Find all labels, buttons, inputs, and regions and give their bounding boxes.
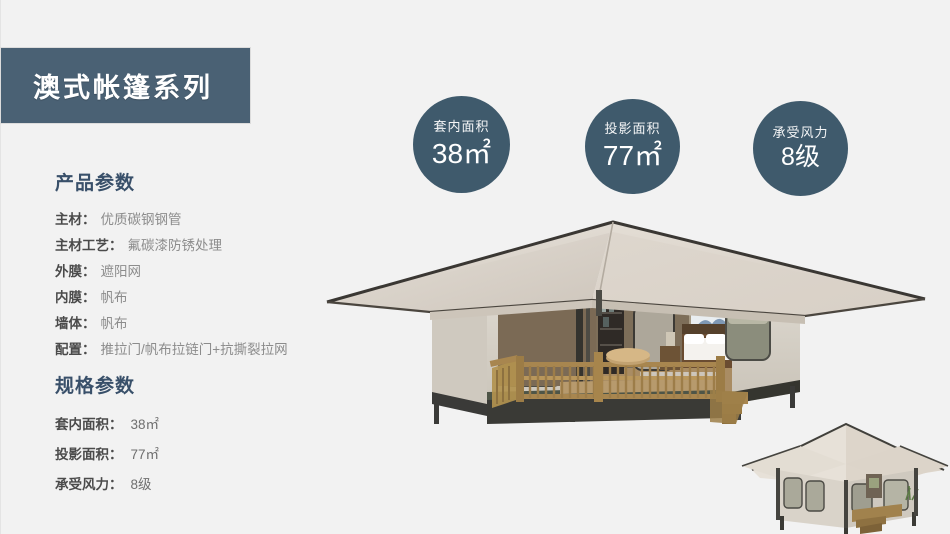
param-value: 优质碳钢钢管 [101,207,182,233]
param-row: 外膜： 遮阳网 [55,259,288,285]
param-value: 帆布 [101,311,128,337]
badge-value: 8级 [781,142,820,172]
param-label: 外膜： [55,259,96,285]
badge-interior-area: 套内面积 38㎡ [413,96,510,193]
param-row: 投影面积： 77㎡ [55,440,159,470]
spec-params-heading: 规格参数 [55,371,159,398]
param-row: 主材： 优质碳钢钢管 [55,207,288,233]
param-label: 投影面积： [55,440,123,470]
param-value: 38㎡ [131,410,160,440]
param-label: 主材： [55,207,96,233]
badge-value: 77㎡ [603,139,662,173]
param-row: 配置： 推拉门/帆布拉链门+抗撕裂拉网 [55,337,288,363]
deck-railing [516,362,724,399]
slide-canvas: 澳式帐篷系列 产品参数 主材： 优质碳钢钢管 主材工艺： 氟碳漆防锈处理 外膜：… [0,0,950,534]
param-row: 主材工艺： 氟碳漆防锈处理 [55,233,288,259]
param-value: 帆布 [101,285,128,311]
badge-label: 投影面积 [604,121,660,137]
param-value: 推拉门/帆布拉链门+抗撕裂拉网 [101,337,288,363]
param-label: 承受风力： [55,470,123,500]
param-row: 墙体： 帆布 [55,311,288,337]
param-label: 墙体： [55,311,96,337]
spec-params-block: 规格参数 套内面积： 38㎡ 投影面积： 77㎡ 承受风力： 8级 [55,371,159,500]
param-label: 主材工艺： [55,233,123,259]
series-title-text: 澳式帐篷系列 [33,66,213,105]
badge-label: 套内面积 [433,119,489,135]
badge-wind-resistance: 承受风力 8级 [753,101,848,196]
product-params-heading: 产品参数 [55,168,288,195]
param-value: 8级 [131,470,152,500]
param-value: 遮阳网 [101,259,142,285]
badge-label: 承受风力 [772,125,828,141]
param-label: 配置： [55,337,96,363]
series-title-banner: 澳式帐篷系列 [0,47,251,124]
watermark-logo [573,243,653,287]
param-label: 套内面积： [55,410,123,440]
param-label: 内膜： [55,285,96,311]
badge-value: 38㎡ [432,137,491,171]
param-row: 内膜： 帆布 [55,285,288,311]
param-row: 套内面积： 38㎡ [55,410,159,440]
inset-tent-image [742,424,948,534]
param-value: 77㎡ [131,440,160,470]
product-params-block: 产品参数 主材： 优质碳钢钢管 主材工艺： 氟碳漆防锈处理 外膜： 遮阳网 内膜… [55,168,288,363]
badge-projected-area: 投影面积 77㎡ [585,99,680,194]
param-row: 承受风力： 8级 [55,470,159,500]
param-value: 氟碳漆防锈处理 [128,233,223,259]
